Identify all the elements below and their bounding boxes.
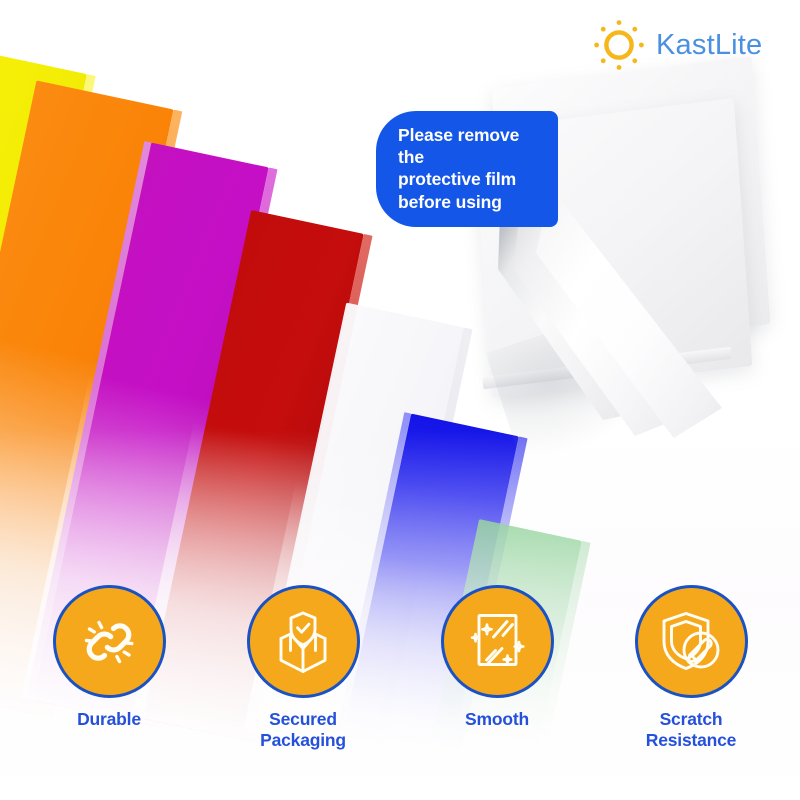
product-marketing-image: KastLite Please remove the protective fi… — [0, 0, 800, 800]
feature-icon-badge — [53, 585, 166, 698]
feature-smooth: Smooth — [422, 585, 572, 750]
feature-icon-badge — [247, 585, 360, 698]
feature-label: Smooth — [465, 709, 529, 730]
feature-scratch-resistance: Scratch Resistance — [616, 585, 766, 750]
shield-box-icon — [268, 607, 338, 677]
chain-link-icon — [75, 608, 143, 676]
sparkling-panel-icon — [462, 607, 532, 677]
feature-list: Durable Secured Packaging — [0, 585, 800, 750]
feature-icon-badge — [441, 585, 554, 698]
protective-film-callout: Please remove the protective film before… — [376, 111, 558, 227]
feature-secured-packaging: Secured Packaging — [228, 585, 378, 750]
feature-label: Durable — [77, 709, 141, 730]
feature-icon-badge — [635, 585, 748, 698]
shield-blade-icon — [656, 607, 726, 677]
feature-label: Secured Packaging — [260, 709, 346, 750]
brand-logo: KastLite — [592, 18, 762, 72]
feature-label: Scratch Resistance — [646, 709, 736, 750]
sun-icon — [592, 18, 646, 72]
brand-wordmark: KastLite — [656, 31, 762, 60]
feature-durable: Durable — [34, 585, 184, 750]
callout-text: Please remove the protective film before… — [398, 124, 542, 213]
